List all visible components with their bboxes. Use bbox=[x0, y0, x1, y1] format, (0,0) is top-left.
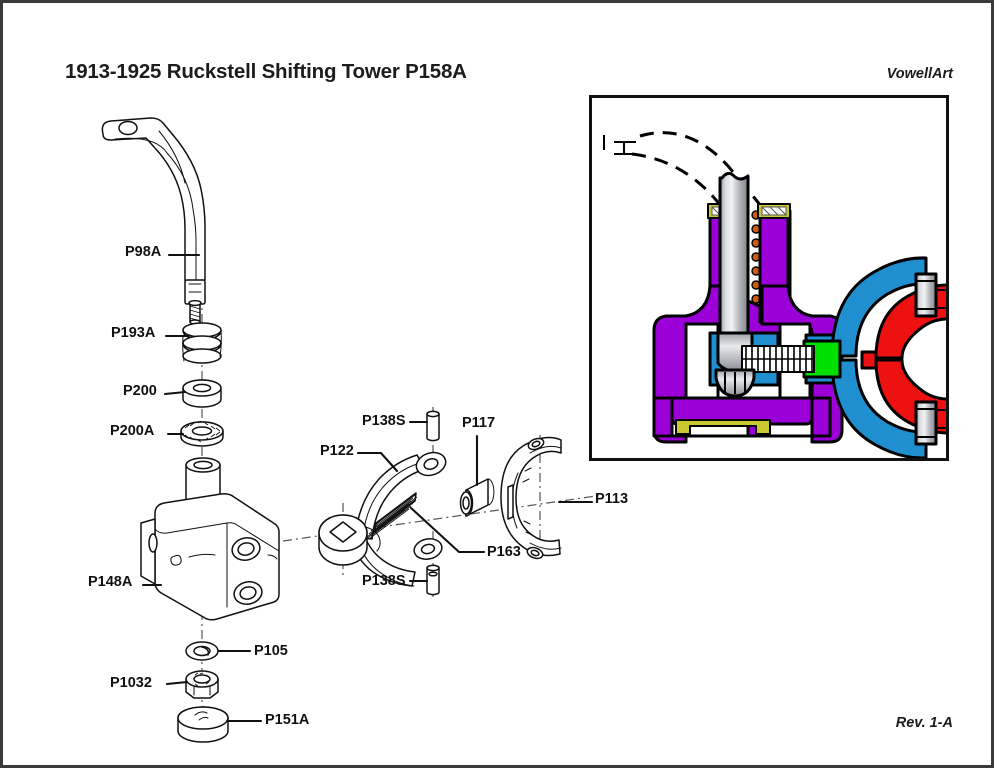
clamp-pivot-pin-lower bbox=[916, 402, 936, 444]
compression-spring bbox=[742, 346, 814, 372]
label-p122: P122 bbox=[320, 444, 354, 459]
diagram-page: 1913-1925 Ruckstell Shifting Tower P158A… bbox=[0, 0, 994, 768]
label-p193a: P193A bbox=[111, 326, 155, 341]
retaining-nut bbox=[716, 370, 754, 396]
part-p151a-shift-knob[interactable] bbox=[178, 707, 228, 742]
part-p1032-hex-nut[interactable] bbox=[186, 671, 218, 698]
label-p151a: P151A bbox=[265, 713, 309, 728]
part-p105-split-lock-washer[interactable] bbox=[186, 642, 218, 660]
cross-section-drawing: .o{stroke:#000;stroke-width:3;stroke-lin… bbox=[592, 98, 946, 458]
cross-section-inset-panel: .o{stroke:#000;stroke-width:3;stroke-lin… bbox=[589, 95, 949, 461]
part-p113-brake-clamp[interactable] bbox=[501, 436, 561, 560]
part-p200a-lock-washer[interactable] bbox=[181, 421, 223, 446]
label-p113: P113 bbox=[595, 492, 628, 507]
label-p105: P105 bbox=[254, 644, 288, 659]
label-p200a: P200A bbox=[110, 424, 154, 439]
label-p200: P200 bbox=[123, 384, 157, 399]
clamp-pivot-pin-upper bbox=[916, 274, 936, 316]
part-p138s-dowel-pin-upper[interactable] bbox=[427, 411, 439, 440]
label-p148a: P148A bbox=[88, 575, 132, 590]
label-p138s-upper: P138S bbox=[362, 414, 406, 429]
part-p200-plain-washer[interactable] bbox=[183, 380, 221, 407]
label-p163: P163 bbox=[487, 545, 521, 560]
part-p98a-shift-lever[interactable] bbox=[102, 118, 205, 324]
label-p138s-lower: P138S bbox=[362, 574, 406, 589]
part-p193a-lever-spring[interactable] bbox=[183, 323, 222, 363]
part-p148a-tower-housing[interactable] bbox=[141, 458, 279, 620]
label-p1032: P1032 bbox=[110, 676, 152, 691]
part-p138s-dowel-pin-lower[interactable] bbox=[427, 565, 439, 594]
label-p98a: P98A bbox=[125, 245, 161, 260]
label-p117: P117 bbox=[462, 416, 495, 431]
